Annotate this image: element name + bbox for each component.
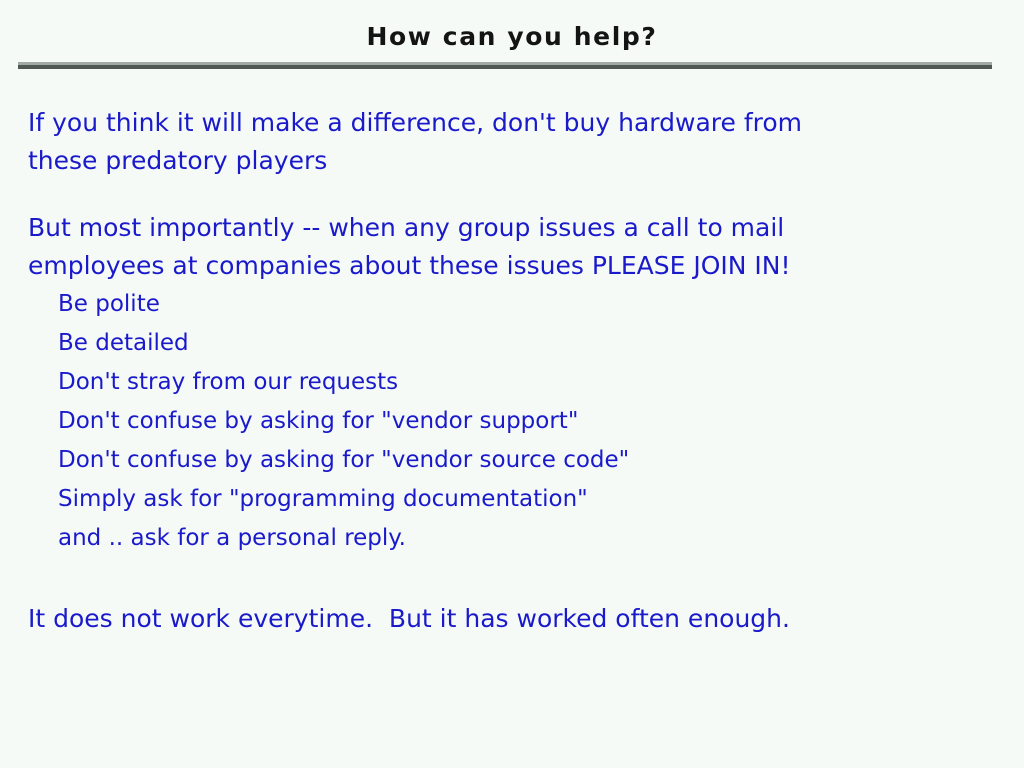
list-item: Be detailed bbox=[58, 324, 998, 363]
list-item: Don't confuse by asking for "vendor supp… bbox=[58, 402, 998, 441]
slide-body: If you think it will make a difference, … bbox=[28, 104, 998, 638]
paragraph-closing: It does not work everytime. But it has w… bbox=[28, 600, 998, 638]
paragraph-intro: If you think it will make a difference, … bbox=[28, 104, 998, 180]
slide: How can you help? If you think it will m… bbox=[0, 0, 1024, 768]
divider-dark-band bbox=[18, 65, 992, 69]
list-item: Be polite bbox=[58, 285, 998, 324]
page-title: How can you help? bbox=[0, 22, 1024, 52]
list-item: Don't stray from our requests bbox=[58, 363, 998, 402]
title-divider bbox=[18, 62, 992, 69]
closing-spacer bbox=[28, 558, 998, 600]
paragraph-spacer bbox=[28, 180, 998, 209]
paragraph-call-to-action: But most importantly -- when any group i… bbox=[28, 209, 998, 285]
list-item: Simply ask for "programming documentatio… bbox=[58, 480, 998, 519]
list-item: Don't confuse by asking for "vendor sour… bbox=[58, 441, 998, 480]
guidelines-list: Be polite Be detailed Don't stray from o… bbox=[58, 285, 998, 558]
list-item: and .. ask for a personal reply. bbox=[58, 519, 998, 558]
